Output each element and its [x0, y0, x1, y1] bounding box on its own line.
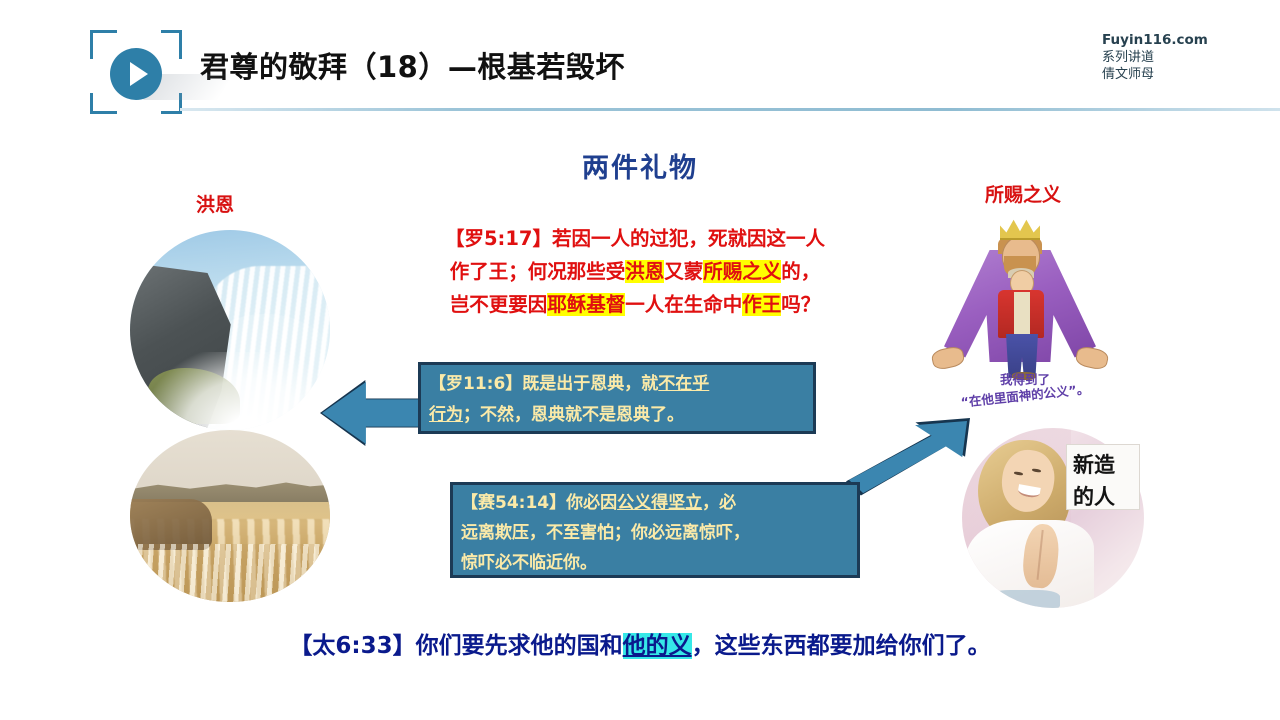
header-divider — [180, 108, 1280, 111]
bottom-verse-part2: ，这些东西都要加给你们了。 — [692, 633, 991, 659]
qbox2-line3: 惊吓必不临近你。 — [461, 548, 857, 578]
play-button-icon[interactable] — [110, 48, 162, 100]
king-caption-line1: 我得到了 — [1000, 372, 1050, 387]
woman-label-line2: 的人 — [1073, 481, 1139, 510]
brand-series: 系列讲道 — [1102, 49, 1262, 66]
woman-label-line1: 新造 — [1073, 449, 1139, 481]
quote-box-romans-11-6: 【罗11:6】既是出于恩典，就不在乎 行为；不然，恩典就不是恩典了。 — [418, 362, 816, 434]
highlight-jesus: 耶稣基督 — [547, 293, 625, 316]
highlight-suoci: 所赐之义 — [703, 260, 781, 283]
slide-canvas: 君尊的敬拜（18）—根基若毁坏 Fuyin116.com 系列讲道 倩文师母 两… — [0, 0, 1280, 720]
quote-box-isaiah-54-14: 【赛54:14】你必因公义得坚立，必 远离欺压，不至害怕；你必远离惊吓， 惊吓必… — [450, 482, 860, 578]
brand-speaker: 倩文师母 — [1102, 66, 1262, 83]
king-caption: 我得到了 “在他里面神的公义”。 — [925, 372, 1125, 404]
underline-gongyi: 公义得坚立 — [617, 493, 702, 513]
image-king-illustration — [930, 208, 1110, 378]
section-title: 两件礼物 — [0, 146, 1280, 185]
brand-site: Fuyin116.com — [1102, 32, 1262, 49]
label-right-gift: 所赐之义 — [985, 180, 1061, 207]
label-left-gift: 洪恩 — [196, 190, 234, 217]
woman-photo-label: 新造 的人 — [1066, 444, 1140, 510]
image-hukou-waterfall — [130, 430, 330, 602]
bottom-verse-matthew-6-33: 【太6:33】你们要先求他的国和他的义，这些东西都要加给你们了。 — [0, 626, 1280, 660]
bottom-verse-part1: 【太6:33】你们要先求他的国和 — [289, 633, 622, 659]
image-niagara-waterfall — [130, 230, 330, 430]
verse-line-2: 作了王；何况那些受洪恩又蒙所赐之义的， — [390, 255, 880, 288]
play-triangle-icon — [130, 62, 148, 86]
underline-xingwei: 行为 — [429, 405, 463, 425]
crown-icon — [1000, 218, 1040, 240]
underline-buzaihu: 不在乎 — [658, 374, 709, 394]
arrow-pointing-up-right — [849, 421, 967, 503]
qbox2-line2: 远离欺压，不至害怕；你必远离惊吓， — [461, 518, 857, 548]
verse-line-1: 【罗5:17】若因一人的过犯，死就因这一人 — [390, 222, 880, 255]
qbox1-line2: 行为；不然，恩典就不是恩典了。 — [429, 400, 813, 431]
qbox1-line1: 【罗11:6】既是出于恩典，就不在乎 — [429, 369, 813, 400]
highlight-zuowang: 作王 — [742, 293, 781, 316]
brand-block: Fuyin116.com 系列讲道 倩文师母 — [1102, 32, 1262, 83]
qbox2-line1: 【赛54:14】你必因公义得坚立，必 — [461, 488, 857, 518]
verse-line-3: 岂不更要因耶稣基督一人在生命中作王吗？ — [390, 288, 880, 321]
highlight-hongen: 洪恩 — [625, 260, 664, 283]
page-title: 君尊的敬拜（18）—根基若毁坏 — [200, 44, 625, 86]
main-verse-romans-5-17: 【罗5:17】若因一人的过犯，死就因这一人 作了王；何况那些受洪恩又蒙所赐之义的… — [390, 222, 880, 321]
highlight-tadeyi: 他的义 — [623, 633, 692, 659]
